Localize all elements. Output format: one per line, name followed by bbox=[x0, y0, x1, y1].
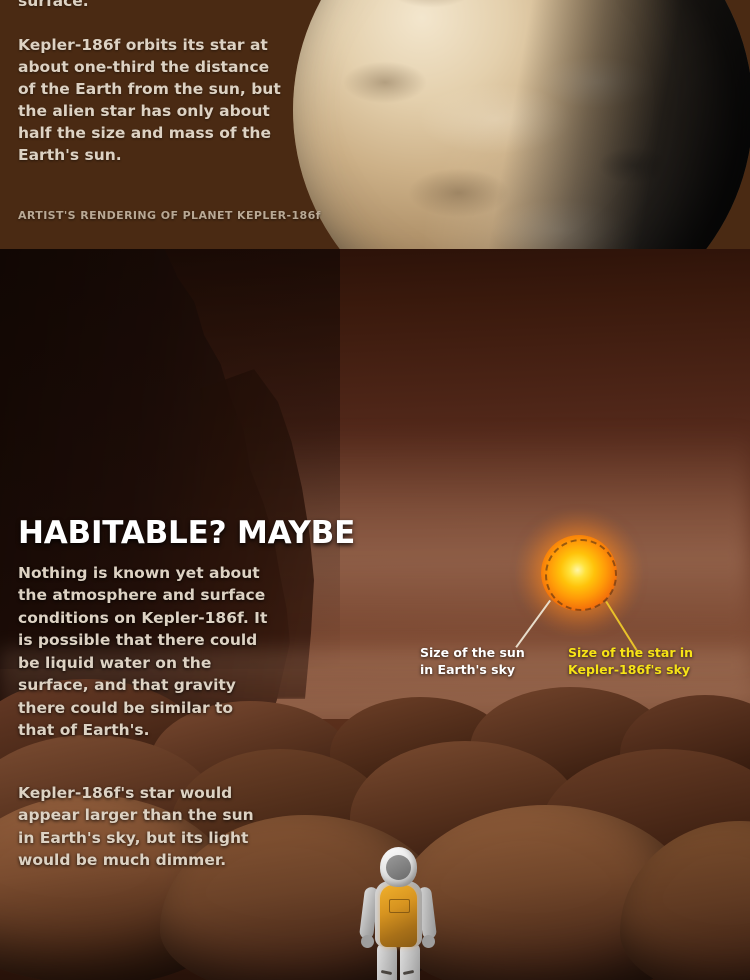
top-orbit-paragraph: Kepler-186f orbits its star at about one… bbox=[18, 34, 288, 166]
star-size-label-line-2: Kepler-186f's sky bbox=[568, 662, 718, 679]
sun-size-label-line-2: in Earth's sky bbox=[420, 662, 560, 679]
habitable-paragraph-1: Nothing is known yet about the atmospher… bbox=[18, 562, 268, 742]
astronaut-backpack-panel bbox=[389, 899, 410, 913]
kepler-star-graphic bbox=[541, 535, 617, 611]
planet-image-credit: ARTIST'S RENDERING OF PLANET KEPLER-186f bbox=[18, 209, 438, 222]
astronaut-glove-right bbox=[422, 935, 435, 948]
astronaut-backpack bbox=[380, 885, 417, 947]
star-size-label: Size of the star in Kepler-186f's sky bbox=[568, 645, 718, 679]
astronaut-glove-left bbox=[361, 935, 374, 948]
top-cutoff-text: surface. bbox=[18, 0, 288, 12]
infographic-page: surface. Kepler-186f orbits its star at … bbox=[0, 0, 750, 980]
habitable-paragraph-2: Kepler-186f's star would appear larger t… bbox=[18, 782, 268, 872]
astronaut-visor bbox=[386, 855, 411, 880]
alien-landscape-scene: Size of the sun in Earth's sky Size of t… bbox=[0, 249, 750, 980]
star-size-label-line-1: Size of the star in bbox=[568, 645, 718, 662]
sun-size-label-line-1: Size of the sun bbox=[420, 645, 560, 662]
astronaut-leg-left bbox=[377, 943, 397, 980]
top-section: surface. Kepler-186f orbits its star at … bbox=[0, 0, 750, 249]
astronaut-figure bbox=[355, 847, 441, 980]
sun-size-label: Size of the sun in Earth's sky bbox=[420, 645, 560, 679]
habitable-heading: HABITABLE? MAYBE bbox=[18, 515, 355, 551]
